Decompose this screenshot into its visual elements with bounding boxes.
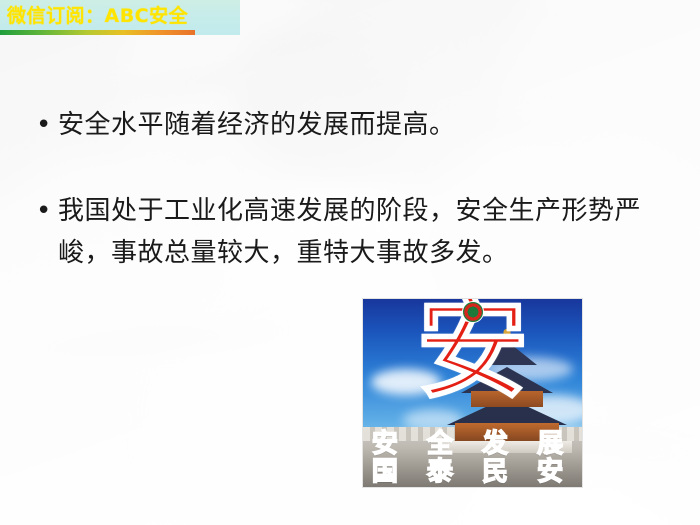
- bullet-marker: •: [36, 104, 58, 146]
- poster-seal-icon: [462, 301, 484, 323]
- bullet-marker: •: [36, 190, 58, 232]
- banner-title: 微信订阅：ABC安全: [7, 4, 188, 28]
- safety-poster-image: 安 安 全 发 展 国 泰 民 安: [362, 298, 583, 488]
- poster-slogan-line-1: 安 全 发 展: [363, 431, 582, 457]
- slide-body-text: • 安全水平随着经济的发展而提高。 • 我国处于工业化高速发展的阶段，安全生产形…: [36, 104, 656, 274]
- bullet-text: 我国处于工业化高速发展的阶段，安全生产形势严峻，事故总量较大，重特大事故多发。: [58, 190, 656, 274]
- banner-gradient-rule: [0, 30, 195, 35]
- bullet-item: • 我国处于工业化高速发展的阶段，安全生产形势严峻，事故总量较大，重特大事故多发…: [36, 190, 656, 274]
- poster-slogan-line-2: 国 泰 民 安: [363, 459, 582, 485]
- header-banner: 微信订阅：ABC安全: [0, 0, 240, 35]
- bullet-item: • 安全水平随着经济的发展而提高。: [36, 104, 656, 146]
- poster-slogan: 安 全 发 展 国 泰 民 安: [363, 431, 582, 485]
- slide-canvas: 微信订阅：ABC安全 • 安全水平随着经济的发展而提高。 • 我国处于工业化高速…: [0, 0, 700, 525]
- bullet-text: 安全水平随着经济的发展而提高。: [58, 104, 656, 146]
